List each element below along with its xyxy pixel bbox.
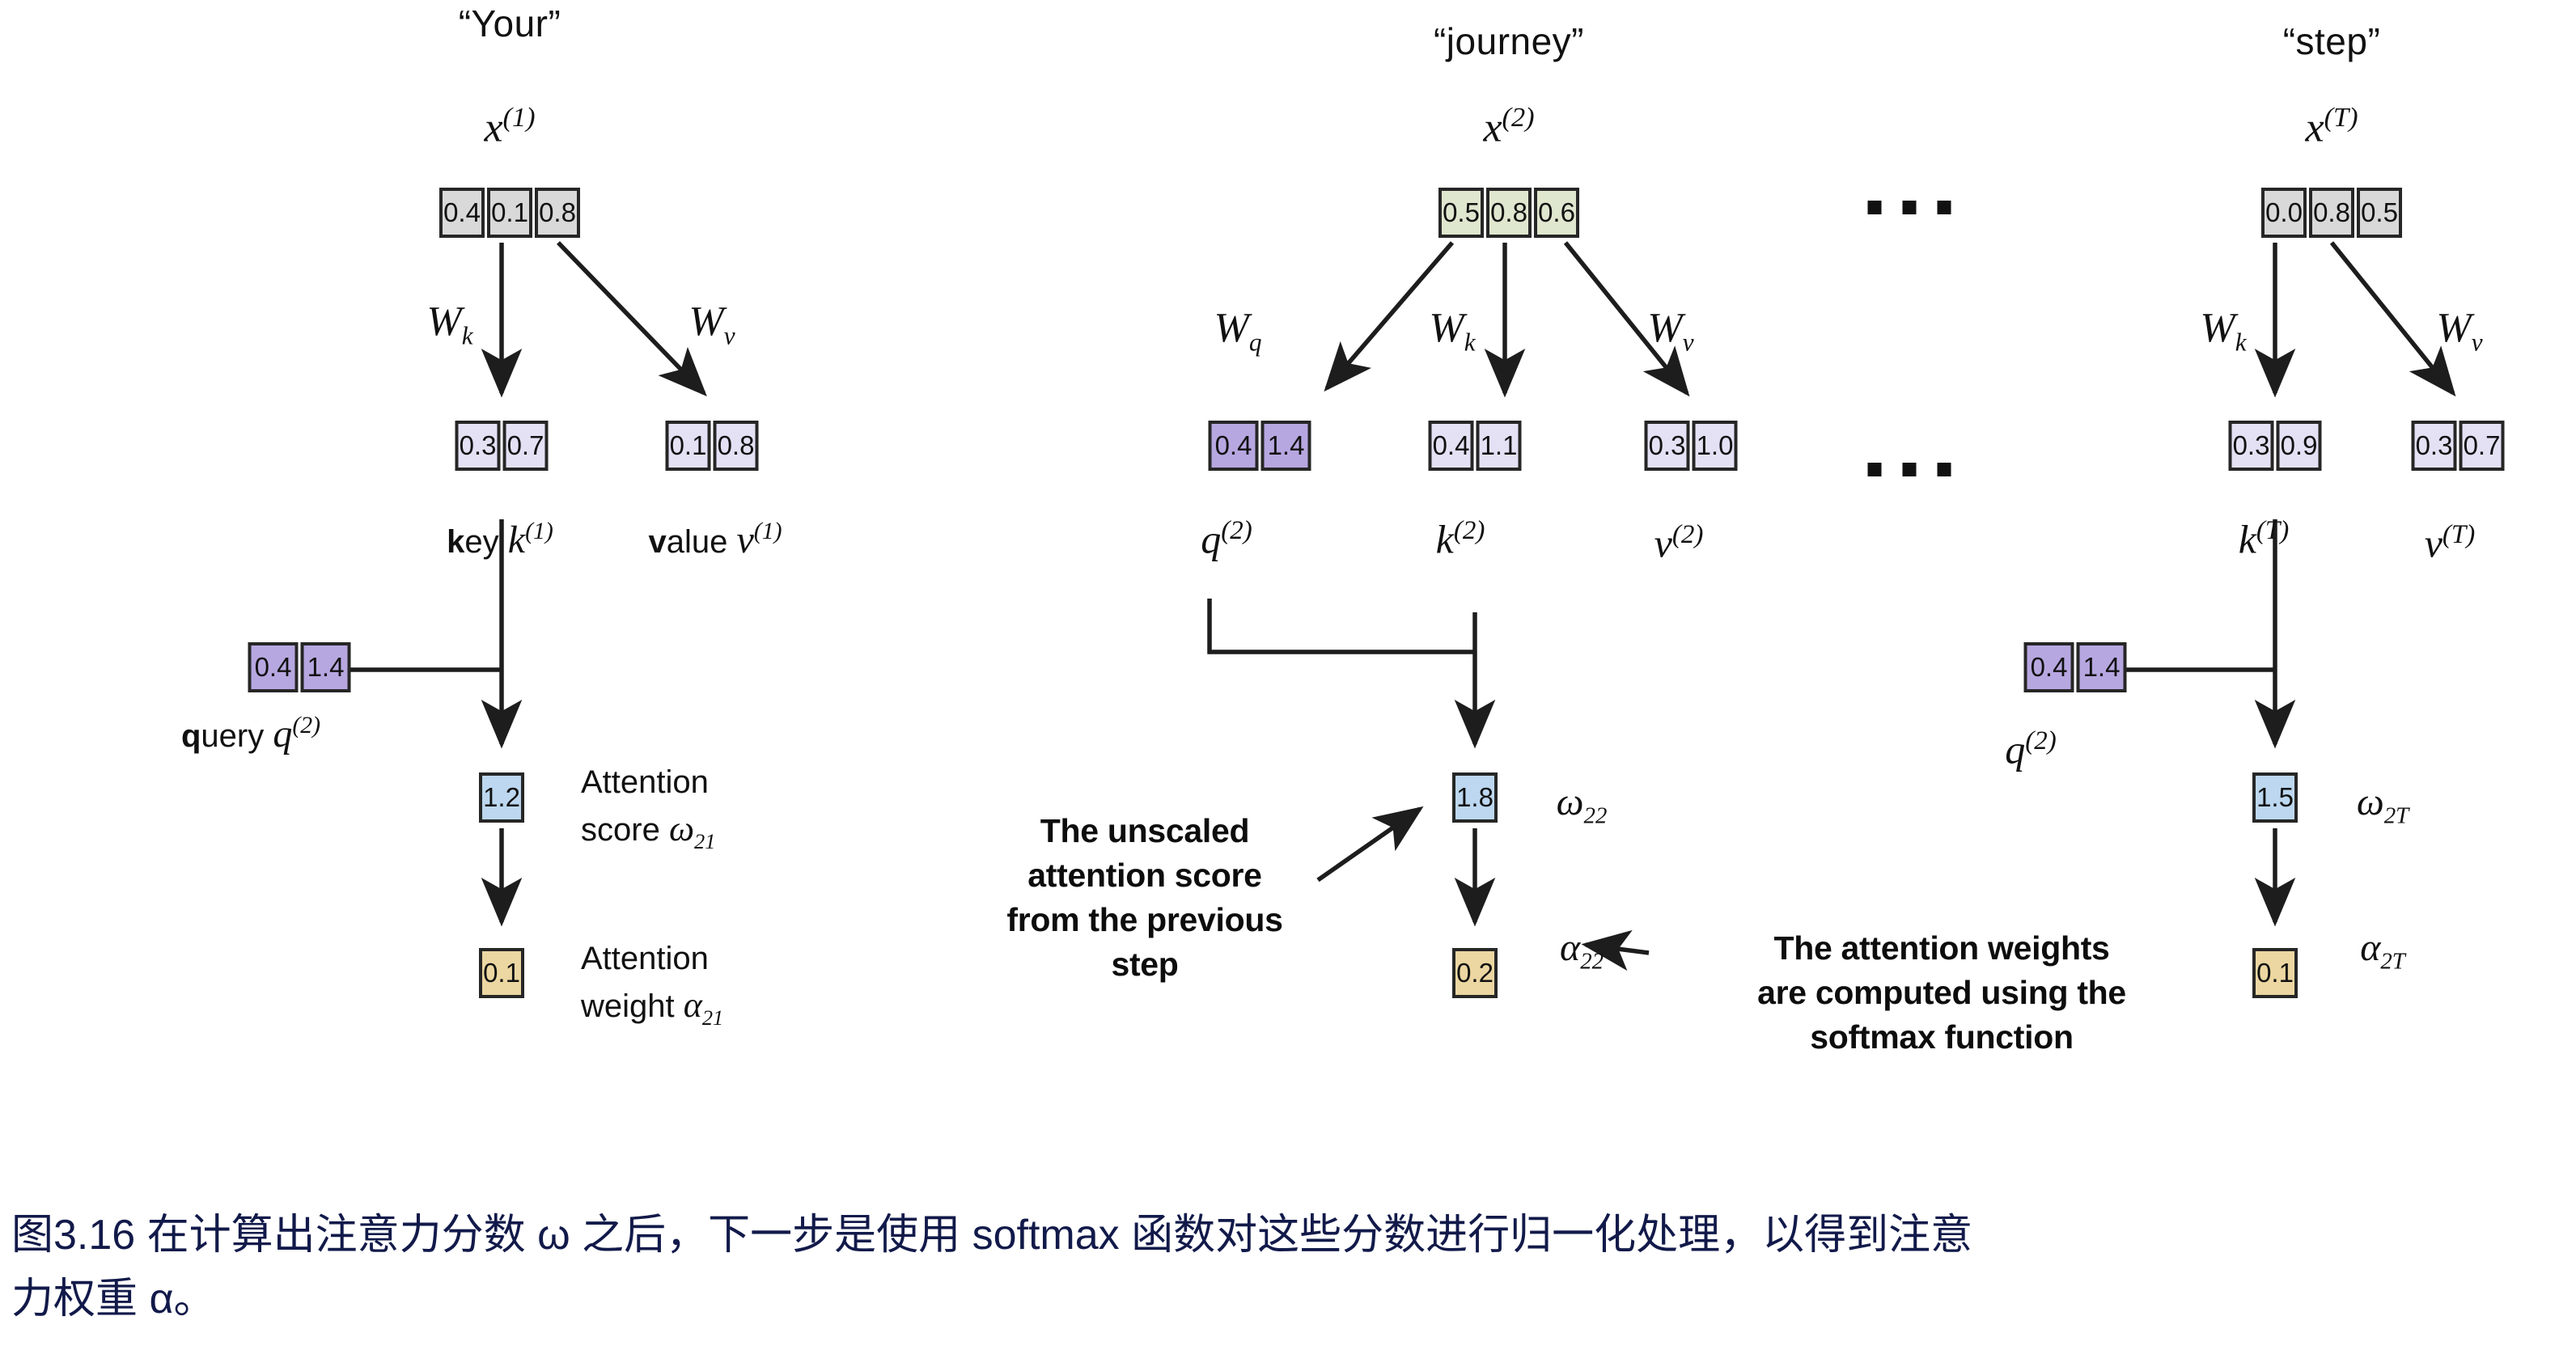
input-vector-xT: 0.0 0.8 0.5 — [2261, 188, 2402, 238]
weight-cell: 0.1 — [2252, 948, 2298, 998]
key-vector-k2: 0.4 1.1 — [1429, 421, 1522, 471]
key-label-kT: k(T) — [2239, 518, 2290, 560]
value-label-v1: value v(1) — [648, 518, 782, 562]
vector-cell: 0.8 — [535, 188, 580, 238]
query-label-q2-col1: query q(2) — [181, 712, 320, 756]
value-vector-vT: 0.3 0.7 — [2412, 421, 2505, 471]
figure-caption: 图3.16 在计算出注意力分数 ω 之后，下一步是使用 softmax 函数对这… — [11, 1204, 2552, 1331]
weight-label-wk-col3: Wk — [2200, 307, 2246, 355]
weight-label-wv-col1: Wv — [688, 301, 735, 349]
vector-cell: 0.7 — [503, 421, 549, 471]
attention-weight-box-a22: 0.2 — [1452, 948, 1498, 998]
input-symbol-x2: x(2) — [1483, 104, 1534, 149]
vector-cell: 0.7 — [2459, 421, 2505, 471]
attention-score-box-w22: 1.8 — [1452, 772, 1498, 823]
weight-label-wv-col3: Wv — [2436, 307, 2482, 355]
key-vector-kT: 0.3 0.9 — [2229, 421, 2322, 471]
attention-score-caption-col1: Attention score ω21 — [581, 760, 715, 856]
vector-cell: 0.8 — [2309, 188, 2354, 238]
weight-symbol-a22: α22 — [1560, 929, 1604, 973]
vector-cell: 0.3 — [1645, 421, 1690, 471]
vector-cell: 1.1 — [1477, 421, 1522, 471]
attention-weight-caption-col1: Attention weight α21 — [581, 937, 723, 1032]
attention-weight-box-a21: 0.1 — [479, 948, 524, 998]
score-symbol-w22: ω22 — [1557, 783, 1608, 827]
vector-cell: 0.8 — [714, 421, 759, 471]
weight-label-wq-col2: Wq — [1214, 307, 1262, 355]
vector-cell: 0.5 — [1438, 188, 1484, 238]
caption-line-1: 图3.16 在计算出注意力分数 ω 之后，下一步是使用 softmax 函数对这… — [11, 1204, 2552, 1268]
caption-line-2: 力权重 α。 — [11, 1268, 2552, 1331]
token-label-your: “Your” — [459, 2, 561, 45]
vector-cell: 0.4 — [439, 188, 485, 238]
connector-layer — [0, 0, 2576, 1367]
score-cell: 1.5 — [2252, 772, 2298, 823]
vector-cell: 0.4 — [2024, 642, 2074, 692]
vector-cell: 1.0 — [1693, 421, 1738, 471]
query-vector-q2-col2: 0.4 1.4 — [1209, 421, 1311, 471]
vector-cell: 1.4 — [301, 642, 351, 692]
value-vector-v1: 0.1 0.8 — [666, 421, 759, 471]
vector-cell: 0.5 — [2357, 188, 2402, 238]
input-symbol-xT: x(T) — [2305, 104, 2358, 149]
vector-cell: 0.8 — [1486, 188, 1532, 238]
vector-cell: 0.1 — [666, 421, 711, 471]
vector-cell: 0.4 — [1429, 421, 1474, 471]
attention-weight-box-a2T: 0.1 — [2252, 948, 2298, 998]
weight-label-wv-col2: Wv — [1647, 307, 1693, 355]
input-symbol-x1: x(1) — [484, 104, 535, 149]
figure-canvas: “Your” x(1) 0.4 0.1 0.8 Wk Wv 0.3 0.7 0.… — [0, 0, 2576, 1367]
key-label-k2: k(2) — [1436, 518, 1485, 560]
score-cell: 1.2 — [479, 772, 524, 823]
token-label-step: “step” — [2283, 19, 2381, 63]
input-vector-x1: 0.4 0.1 0.8 — [439, 188, 580, 238]
query-vector-q2-col1: 0.4 1.4 — [248, 642, 351, 692]
token-label-journey: “journey” — [1434, 19, 1584, 63]
vector-cell: 0.3 — [455, 421, 501, 471]
value-label-vT: v(T) — [2425, 522, 2476, 564]
ellipsis-icon-top — [1868, 201, 1951, 214]
vector-cell: 0.9 — [2277, 421, 2322, 471]
query-label-q2-col2: q(2) — [1201, 518, 1252, 560]
weight-cell: 0.1 — [479, 948, 524, 998]
weight-label-wk-col2: Wk — [1429, 307, 1475, 355]
attention-score-box-w2T: 1.5 — [2252, 772, 2298, 823]
vector-cell: 0.3 — [2412, 421, 2457, 471]
key-vector-k1: 0.3 0.7 — [455, 421, 549, 471]
value-label-v2: v(2) — [1654, 522, 1704, 564]
vector-cell: 0.1 — [487, 188, 532, 238]
vector-cell: 0.4 — [248, 642, 299, 692]
attention-score-box-w21: 1.2 — [479, 772, 524, 823]
input-vector-x2: 0.5 0.8 0.6 — [1438, 188, 1579, 238]
value-vector-v2: 0.3 1.0 — [1645, 421, 1738, 471]
score-symbol-w2T: ω2T — [2357, 783, 2409, 827]
vector-cell: 0.4 — [1209, 421, 1259, 471]
key-label-k1: key k(1) — [447, 518, 553, 562]
vector-cell: 1.4 — [2077, 642, 2127, 692]
weight-label-wk-col1: Wk — [426, 301, 472, 349]
annotation-unscaled-score: The unscaled attention score from the pr… — [975, 809, 1315, 987]
weight-symbol-a2T: α2T — [2360, 929, 2405, 973]
ellipsis-icon-middle — [1868, 463, 1951, 476]
query-label-q2-col3: q(2) — [2005, 728, 2056, 770]
vector-cell: 0.6 — [1534, 188, 1579, 238]
score-cell: 1.8 — [1452, 772, 1498, 823]
vector-cell: 1.4 — [1261, 421, 1311, 471]
vector-cell: 0.3 — [2229, 421, 2274, 471]
vector-cell: 0.0 — [2261, 188, 2307, 238]
weight-cell: 0.2 — [1452, 948, 1498, 998]
annotation-softmax: The attention weights are computed using… — [1659, 926, 2225, 1060]
query-vector-q2-col3: 0.4 1.4 — [2024, 642, 2127, 692]
